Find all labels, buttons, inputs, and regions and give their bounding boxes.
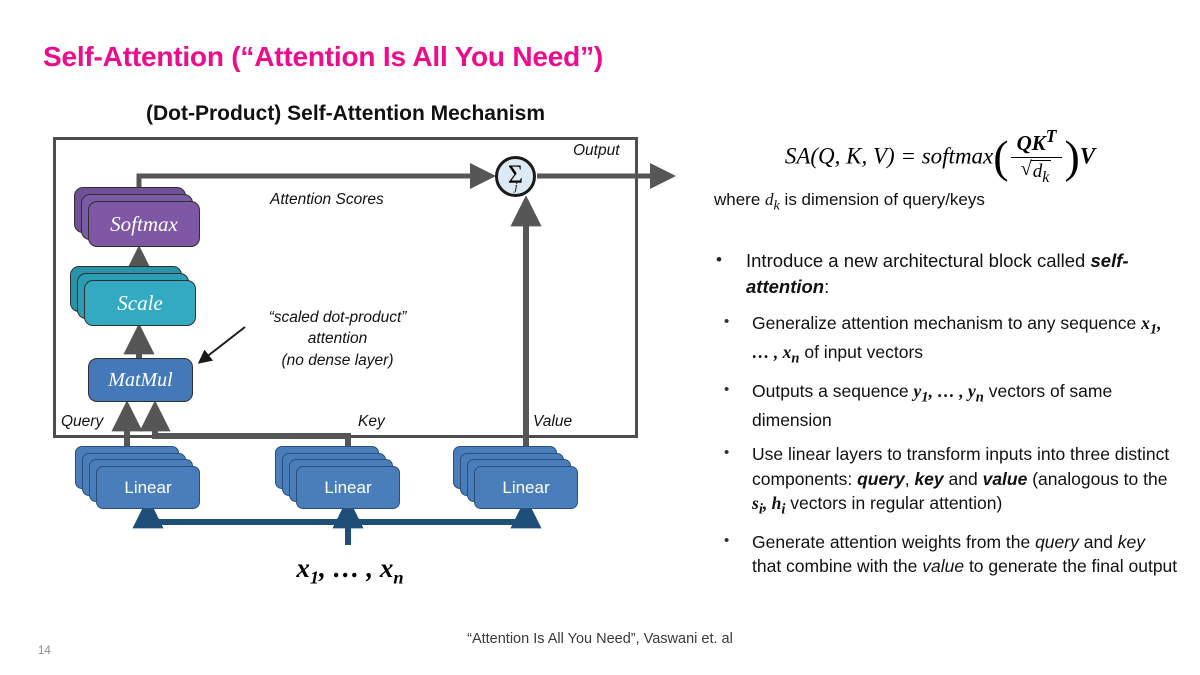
equation-numerator: QKT xyxy=(1011,126,1063,156)
equation-trailing-v: V xyxy=(1080,144,1095,169)
label-key: Key xyxy=(358,413,385,431)
block-linear-value: Linear xyxy=(474,466,578,509)
bullet-list: • Introduce a new architectural block ca… xyxy=(708,248,1178,589)
equation-lhs: SA(Q, K, V) = softmax xyxy=(785,144,993,169)
equation-fraction: QKT dk xyxy=(1011,126,1063,187)
close-paren: ) xyxy=(1064,131,1079,182)
denominator-k: k xyxy=(1042,169,1049,186)
bullet-marker: • xyxy=(724,379,729,401)
annotation-line-1: “scaled dot-product” xyxy=(245,307,430,328)
block-matmul: MatMul xyxy=(88,358,193,402)
bullet-text-4: Generate attention weights from the quer… xyxy=(752,532,1177,577)
page-number: 14 xyxy=(38,645,51,657)
list-item: • Generate attention weights from the qu… xyxy=(708,530,1178,579)
where-suffix: is dimension of query/keys xyxy=(780,190,985,209)
slide-footer-citation: “Attention Is All You Need”, Vaswani et.… xyxy=(0,631,1200,647)
denominator-d: d xyxy=(1033,161,1043,182)
bullet-text-1: Generalize attention mechanism to any se… xyxy=(752,313,1162,362)
linear-value-label: Linear xyxy=(474,466,578,509)
equation-where-note: where dk is dimension of query/keys xyxy=(714,190,985,214)
sqrt-icon: dk xyxy=(1022,160,1052,187)
input-x1-sub: 1 xyxy=(310,567,319,587)
sigma-subscript: j xyxy=(515,181,518,193)
bullet-text-3: Use linear layers to transform inputs in… xyxy=(752,444,1169,513)
scale-label: Scale xyxy=(84,280,196,326)
list-item: • Generalize attention mechanism to any … xyxy=(708,311,1178,369)
softmax-label: Softmax xyxy=(88,201,200,247)
fraction-bar xyxy=(1011,157,1063,158)
numerator-qk: QK xyxy=(1017,131,1046,155)
matmul-label: MatMul xyxy=(88,358,193,402)
bullet-text-0: Introduce a new architectural block call… xyxy=(746,250,1129,297)
input-xn-sub: n xyxy=(393,567,403,587)
bullet-marker: • xyxy=(724,530,729,552)
equation-denominator: dk xyxy=(1011,159,1063,187)
label-query: Query xyxy=(61,413,103,431)
bullet-marker: • xyxy=(724,442,729,464)
label-attention-scores: Attention Scores xyxy=(270,191,384,209)
input-x1: x xyxy=(296,553,310,583)
block-linear-key: Linear xyxy=(296,466,400,509)
input-sequence-sep: , … , xyxy=(319,553,380,583)
bullet-marker: • xyxy=(716,248,722,272)
open-paren: ( xyxy=(993,131,1008,182)
summation-node: Σ j xyxy=(495,156,536,197)
annotation-line-2: attention xyxy=(245,328,430,349)
input-xn: x xyxy=(380,553,394,583)
where-prefix: where xyxy=(714,190,765,209)
label-output: Output xyxy=(573,142,620,160)
annotation-scaled-dot-product: “scaled dot-product” attention (no dense… xyxy=(245,307,430,371)
label-value: Value xyxy=(533,413,572,431)
sub-bullet-group: • Generalize attention mechanism to any … xyxy=(708,311,1178,579)
bullet-text-2: Outputs a sequence y1, … , yn vectors of… xyxy=(752,381,1112,430)
slide: Self-Attention (“Attention Is All You Ne… xyxy=(0,0,1200,675)
list-item: • Introduce a new architectural block ca… xyxy=(708,248,1178,300)
input-sequence-label: x1, … , xn xyxy=(255,553,445,588)
bullet-marker: • xyxy=(724,311,729,333)
list-item: • Use linear layers to transform inputs … xyxy=(708,442,1178,520)
list-item: • Outputs a sequence y1, … , yn vectors … xyxy=(708,379,1178,432)
linear-query-label: Linear xyxy=(96,466,200,509)
annotation-line-3: (no dense layer) xyxy=(245,350,430,371)
self-attention-equation: SA(Q, K, V) = softmax( QKT dk )V xyxy=(700,128,1180,189)
block-linear-query: Linear xyxy=(96,466,200,509)
where-dk: d xyxy=(765,190,774,209)
block-scale: Scale xyxy=(84,280,196,326)
self-attention-diagram: Softmax Scale MatMul Linear Linear xyxy=(0,0,690,620)
numerator-transpose: T xyxy=(1046,126,1057,146)
linear-key-label: Linear xyxy=(296,466,400,509)
block-softmax: Softmax xyxy=(88,201,200,247)
